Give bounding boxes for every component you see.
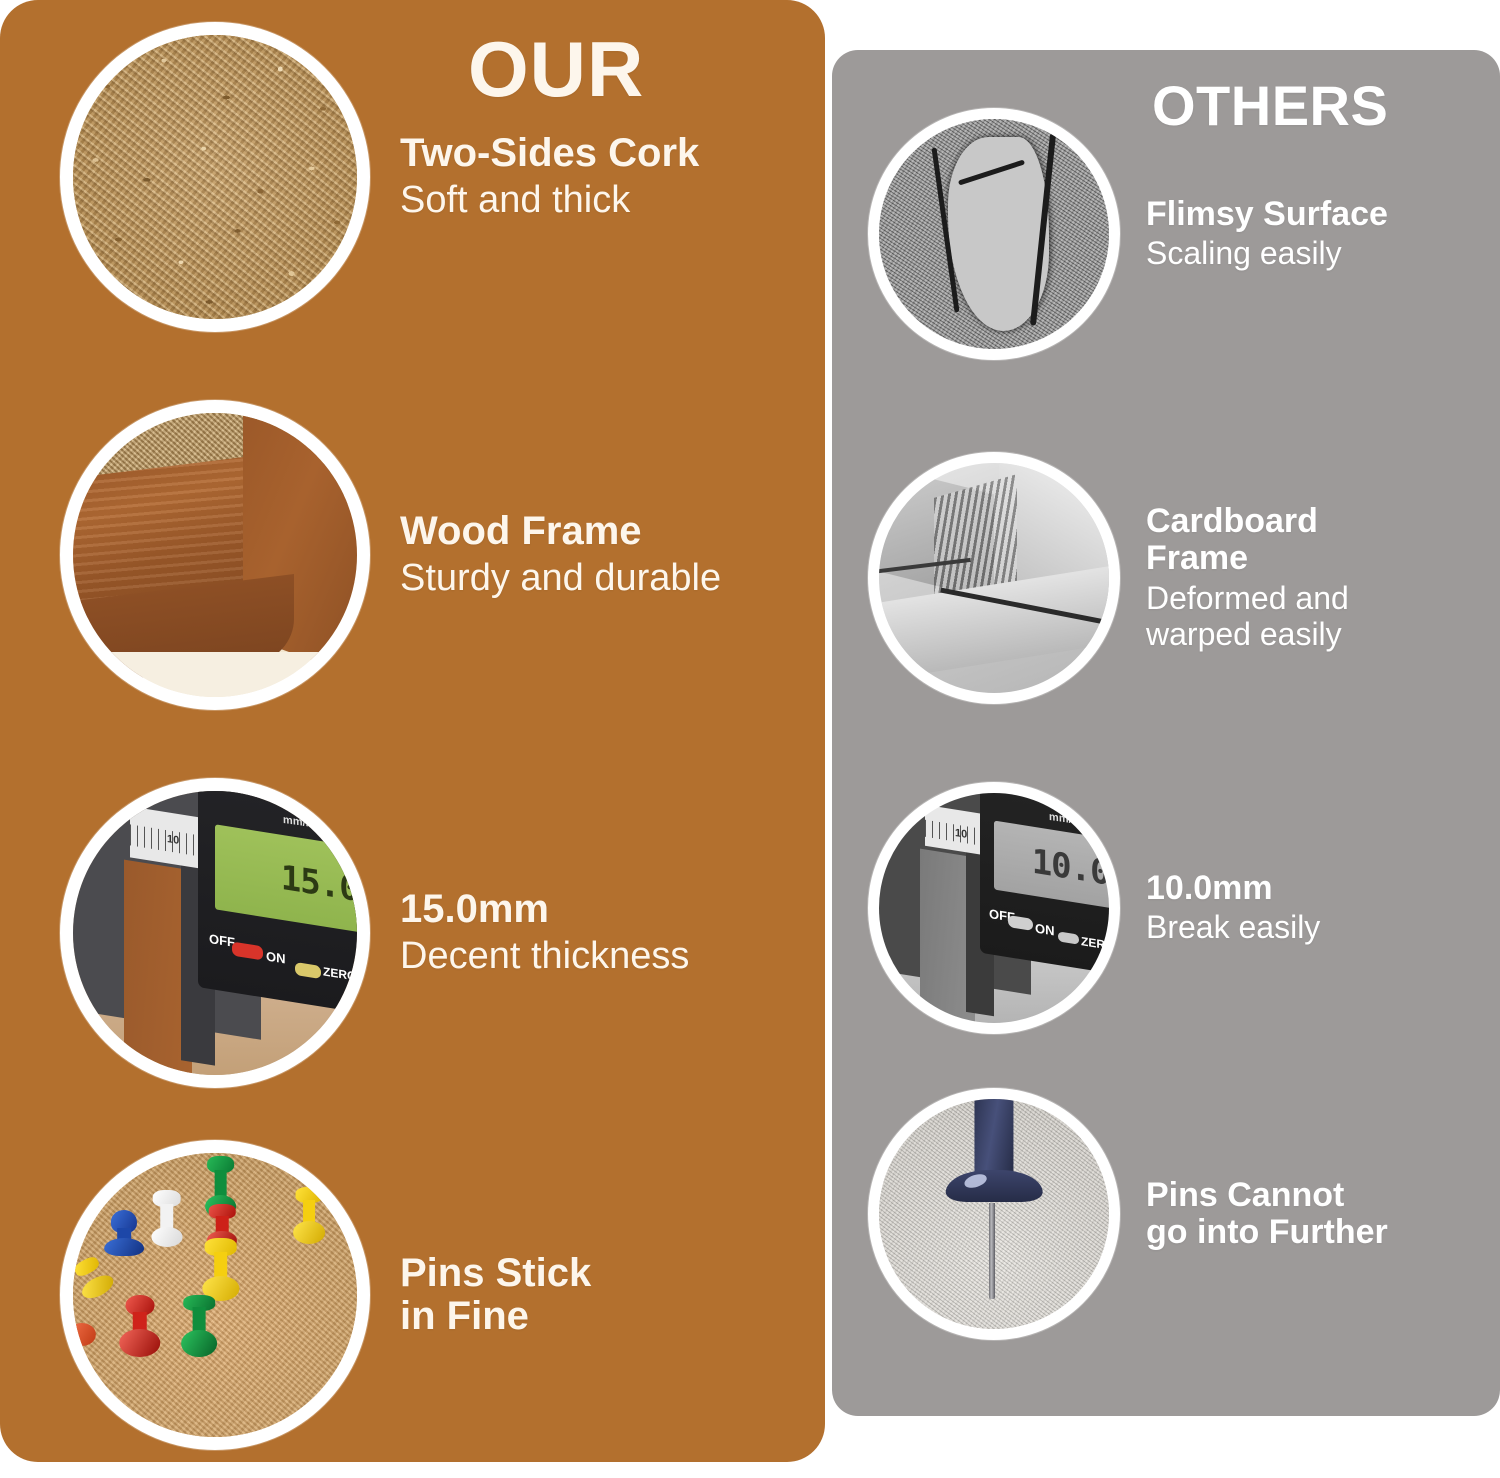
others-feature-image-4-frame — [868, 1088, 1120, 1340]
cracked-surface-image — [879, 119, 1109, 349]
our-feature-text-1: Two-Sides Cork Soft and thick — [370, 132, 699, 222]
pushpin-green-lower — [178, 1295, 221, 1357]
others-feature-title-1: Flimsy Surface — [1146, 196, 1388, 233]
others-feature-text-4: Pins Cannot go into Further — [1120, 1177, 1388, 1250]
others-feature-title-3: 10.0mm — [1146, 870, 1320, 907]
others-feature-text-1: Flimsy Surface Scaling easily — [1120, 196, 1388, 273]
our-feature-image-1-frame — [60, 22, 370, 332]
others-feature-row-1: Flimsy Surface Scaling easily — [868, 108, 1498, 360]
cork-texture-image — [73, 35, 357, 319]
pushpin-yellow-left — [73, 1251, 120, 1305]
others-feature-title-4: Pins Cannot go into Further — [1146, 1177, 1388, 1250]
caliper-on-label-others: ON — [1035, 920, 1055, 938]
our-feature-row-2: Wood Frame Sturdy and durable — [60, 400, 820, 710]
others-feature-row-3: 10 mm/inch 10.0 OFF ON ZER 10.0mm Break … — [868, 782, 1498, 1034]
others-feature-image-1-frame — [868, 108, 1120, 360]
pin-cannot-penetrate-image — [879, 1099, 1109, 1329]
others-feature-text-2: Cardboard Frame Deformed and warped easi… — [1120, 503, 1349, 652]
pushpin-red-lower — [116, 1295, 164, 1357]
comparison-infographic: OUR Two-Sides Cork Soft and thick — [0, 0, 1500, 1478]
wood-frame-image — [73, 413, 357, 697]
our-feature-row-3: 10 mm/inch 15.0 OFF ON ZERO 15.0mm Decen… — [60, 778, 820, 1088]
others-feature-title-2: Cardboard Frame — [1146, 503, 1349, 576]
caliper-10mm-image: 10 mm/inch 10.0 OFF ON ZER — [879, 793, 1109, 1023]
others-feature-image-3-frame: 10 mm/inch 10.0 OFF ON ZER — [868, 782, 1120, 1034]
torn-cardboard-image — [879, 463, 1109, 693]
pushpin-blue — [96, 1210, 153, 1255]
our-feature-subtitle-3: Decent thickness — [400, 935, 689, 978]
others-feature-subtitle-1: Scaling easily — [1146, 236, 1388, 272]
others-feature-row-4: Pins Cannot go into Further — [868, 1088, 1498, 1340]
our-feature-text-4: Pins Stick in Fine — [370, 1252, 591, 1338]
our-feature-image-4-frame — [60, 1140, 370, 1450]
our-feature-text-3: 15.0mm Decent thickness — [370, 888, 689, 978]
pushpin-white — [147, 1190, 187, 1247]
caliper-scale-number-others: 10 — [955, 827, 967, 841]
others-feature-text-3: 10.0mm Break easily — [1120, 870, 1320, 947]
our-feature-row-1: Two-Sides Cork Soft and thick — [60, 22, 820, 332]
caliper-on-label-our: ON — [266, 948, 286, 966]
our-feature-subtitle-2: Sturdy and durable — [400, 557, 721, 600]
caliper-scale-number-our: 10 — [167, 833, 179, 847]
our-feature-title-2: Wood Frame — [400, 510, 721, 553]
our-feature-subtitle-1: Soft and thick — [400, 179, 699, 222]
our-feature-image-2-frame — [60, 400, 370, 710]
our-feature-text-2: Wood Frame Sturdy and durable — [370, 510, 721, 600]
our-feature-image-3-frame: 10 mm/inch 15.0 OFF ON ZERO — [60, 778, 370, 1088]
pushpin-yellow-right — [289, 1187, 329, 1244]
others-feature-image-2-frame — [868, 452, 1120, 704]
pushpin-yellow-center — [198, 1238, 243, 1300]
caliper-15mm-image: 10 mm/inch 15.0 OFF ON ZERO — [73, 791, 357, 1075]
our-feature-row-4: Pins Stick in Fine — [60, 1140, 820, 1450]
our-feature-title-1: Two-Sides Cork — [400, 132, 699, 175]
others-feature-subtitle-2: Deformed and warped easily — [1146, 581, 1349, 653]
our-feature-title-3: 15.0mm — [400, 888, 689, 931]
pushpin-orange-edge — [73, 1323, 96, 1346]
our-feature-title-4: Pins Stick in Fine — [400, 1252, 591, 1338]
others-feature-row-2: Cardboard Frame Deformed and warped easi… — [868, 452, 1498, 704]
pushpins-in-cork-image — [73, 1153, 357, 1437]
others-feature-subtitle-3: Break easily — [1146, 910, 1320, 946]
